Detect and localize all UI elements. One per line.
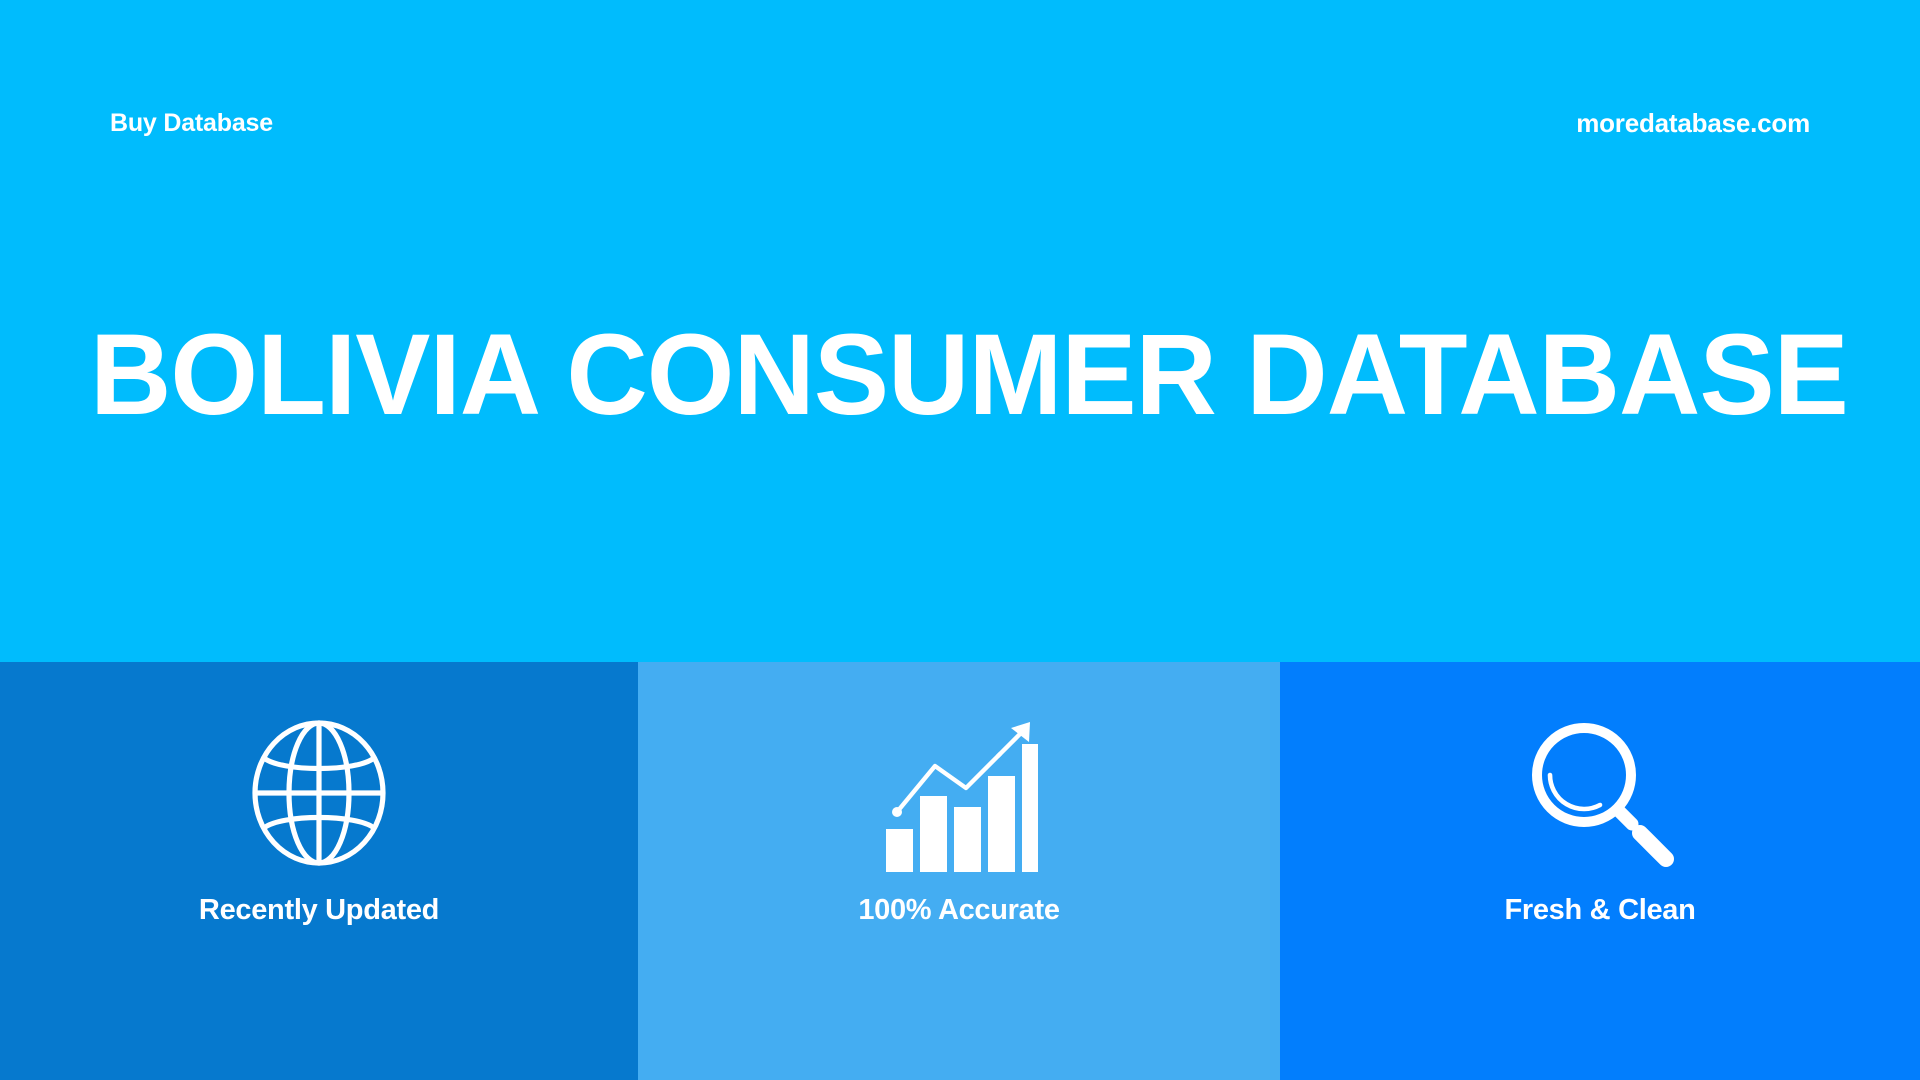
globe-icon	[239, 713, 399, 873]
feature-strip: Recently Updated	[0, 662, 1920, 1080]
feature-card-fresh-clean: Fresh & Clean	[1280, 662, 1920, 1080]
growth-bar-chart-icon	[879, 713, 1039, 873]
feature-label-100-accurate: 100% Accurate	[638, 894, 1280, 927]
page-title: BOLIVIA CONSUMER DATABASE	[90, 318, 1795, 433]
promo-banner: Buy Database moredatabase.com BOLIVIA CO…	[0, 0, 1920, 1080]
feature-card-recently-updated: Recently Updated	[0, 662, 638, 1080]
feature-card-100-accurate: 100% Accurate	[638, 662, 1280, 1080]
website-url-label: moredatabase.com	[1576, 108, 1810, 139]
feature-label-recently-updated: Recently Updated	[0, 894, 638, 927]
brand-label: Buy Database	[110, 109, 273, 138]
feature-label-fresh-clean: Fresh & Clean	[1280, 894, 1920, 927]
hero-topbar: Buy Database moredatabase.com	[0, 0, 1920, 210]
magnifying-glass-icon	[1520, 713, 1680, 873]
hero-section: Buy Database moredatabase.com BOLIVIA CO…	[0, 0, 1920, 662]
